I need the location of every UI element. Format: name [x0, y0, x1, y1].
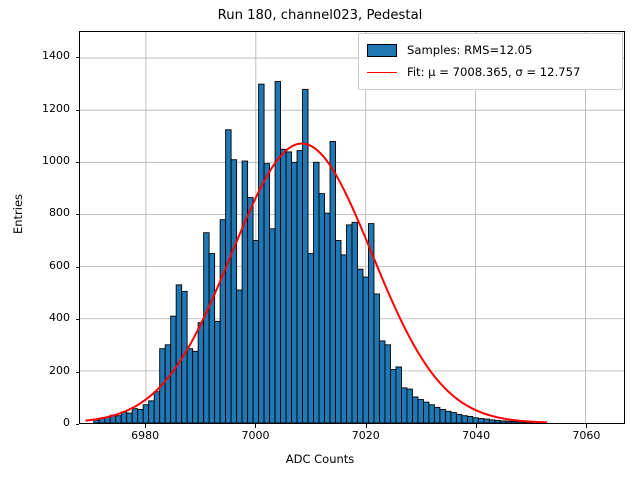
- y-tick-label: 200: [10, 364, 70, 377]
- x-tick-label: 7060: [551, 429, 621, 442]
- x-tick-mark: [586, 424, 587, 428]
- x-tick-mark: [366, 424, 367, 428]
- x-tick-label: 7020: [331, 429, 401, 442]
- legend-label-samples: Samples: RMS=12.05: [407, 43, 532, 57]
- legend: Samples: RMS=12.05 Fit: μ = 7008.365, σ …: [358, 33, 623, 90]
- x-tick-mark: [255, 424, 256, 428]
- y-axis-label: Entries: [11, 134, 25, 294]
- legend-swatch-samples-icon: [366, 43, 398, 57]
- y-tick-mark: [76, 57, 80, 58]
- x-tick-label: 7000: [220, 429, 290, 442]
- legend-swatch-fit-icon: [366, 65, 398, 79]
- y-tick-mark: [76, 424, 80, 425]
- y-tick-label: 400: [10, 311, 70, 324]
- x-tick-mark: [476, 424, 477, 428]
- legend-item-fit: Fit: μ = 7008.365, σ = 12.757: [366, 61, 615, 83]
- y-tick-mark: [76, 267, 80, 268]
- y-tick-mark: [76, 110, 80, 111]
- y-tick-label: 1200: [10, 102, 70, 115]
- y-tick-mark: [76, 214, 80, 215]
- y-tick-mark: [76, 162, 80, 163]
- legend-item-samples: Samples: RMS=12.05: [366, 39, 615, 61]
- x-tick-mark: [145, 424, 146, 428]
- chart-figure: Run 180, channel023, Pedestal 6980700070…: [0, 0, 640, 480]
- y-tick-mark: [76, 372, 80, 373]
- fit-path: [85, 144, 547, 423]
- y-tick-label: 1400: [10, 49, 70, 62]
- y-tick-mark: [76, 319, 80, 320]
- gaussian-fit-curve: [80, 32, 624, 423]
- legend-label-fit: Fit: μ = 7008.365, σ = 12.757: [407, 65, 580, 79]
- y-tick-label: 0: [10, 416, 70, 429]
- x-tick-label: 6980: [110, 429, 180, 442]
- chart-title: Run 180, channel023, Pedestal: [0, 8, 640, 23]
- x-tick-label: 7040: [441, 429, 511, 442]
- x-axis-label: ADC Counts: [0, 452, 640, 466]
